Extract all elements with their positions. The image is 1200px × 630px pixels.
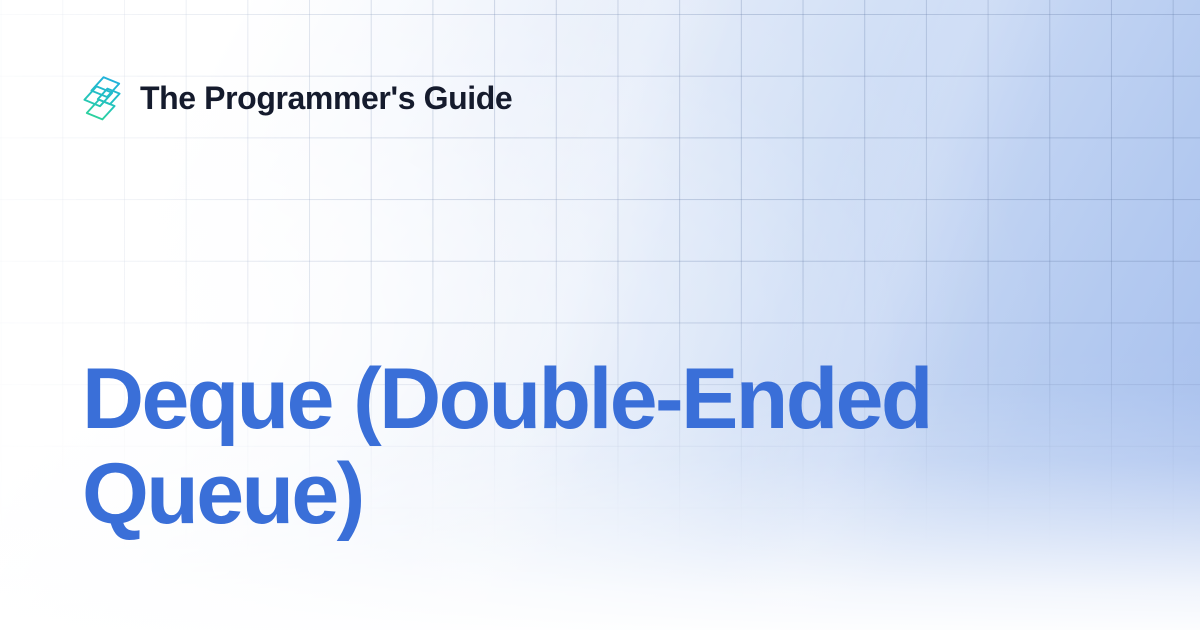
brand-name: The Programmer's Guide	[140, 82, 512, 114]
brand-header: The Programmer's Guide	[79, 74, 512, 122]
social-card-banner: The Programmer's Guide Deque (Double-End…	[0, 0, 1200, 630]
layered-diamonds-logo-icon	[79, 74, 123, 122]
page-title: Deque (Double-Ended Queue)	[82, 352, 1112, 542]
